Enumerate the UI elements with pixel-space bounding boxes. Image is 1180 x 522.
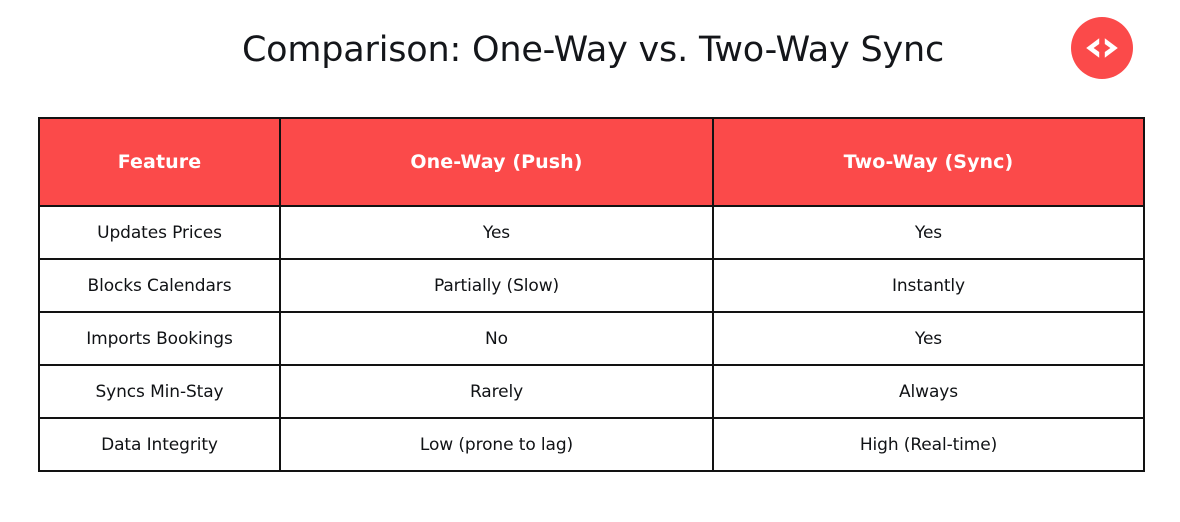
column-header-two-way: Two-Way (Sync) — [713, 118, 1144, 206]
table-row: Blocks Calendars Partially (Slow) Instan… — [39, 259, 1144, 312]
cell-one-way: Yes — [280, 206, 713, 259]
page-root: Comparison: One-Way vs. Two-Way Sync Fea… — [0, 0, 1180, 522]
table-header-row: Feature One-Way (Push) Two-Way (Sync) — [39, 118, 1144, 206]
code-chevrons-icon — [1085, 35, 1119, 61]
cell-feature: Syncs Min-Stay — [39, 365, 280, 418]
cell-two-way: Yes — [713, 206, 1144, 259]
table-header: Feature One-Way (Push) Two-Way (Sync) — [39, 118, 1144, 206]
table-row: Syncs Min-Stay Rarely Always — [39, 365, 1144, 418]
brand-logo — [1071, 17, 1133, 79]
table-row: Imports Bookings No Yes — [39, 312, 1144, 365]
comparison-table-container: Feature One-Way (Push) Two-Way (Sync) Up… — [38, 117, 1143, 472]
cell-one-way: No — [280, 312, 713, 365]
cell-two-way: Yes — [713, 312, 1144, 365]
cell-two-way: High (Real-time) — [713, 418, 1144, 471]
column-header-one-way: One-Way (Push) — [280, 118, 713, 206]
cell-two-way: Instantly — [713, 259, 1144, 312]
cell-one-way: Rarely — [280, 365, 713, 418]
cell-feature: Blocks Calendars — [39, 259, 280, 312]
cell-feature: Data Integrity — [39, 418, 280, 471]
cell-one-way: Partially (Slow) — [280, 259, 713, 312]
comparison-table: Feature One-Way (Push) Two-Way (Sync) Up… — [38, 117, 1145, 472]
cell-feature: Updates Prices — [39, 206, 280, 259]
table-row: Updates Prices Yes Yes — [39, 206, 1144, 259]
table-row: Data Integrity Low (prone to lag) High (… — [39, 418, 1144, 471]
page-header: Comparison: One-Way vs. Two-Way Sync — [0, 0, 1180, 112]
cell-two-way: Always — [713, 365, 1144, 418]
column-header-feature: Feature — [39, 118, 280, 206]
cell-feature: Imports Bookings — [39, 312, 280, 365]
page-title: Comparison: One-Way vs. Two-Way Sync — [40, 28, 1146, 72]
cell-one-way: Low (prone to lag) — [280, 418, 713, 471]
table-body: Updates Prices Yes Yes Blocks Calendars … — [39, 206, 1144, 471]
